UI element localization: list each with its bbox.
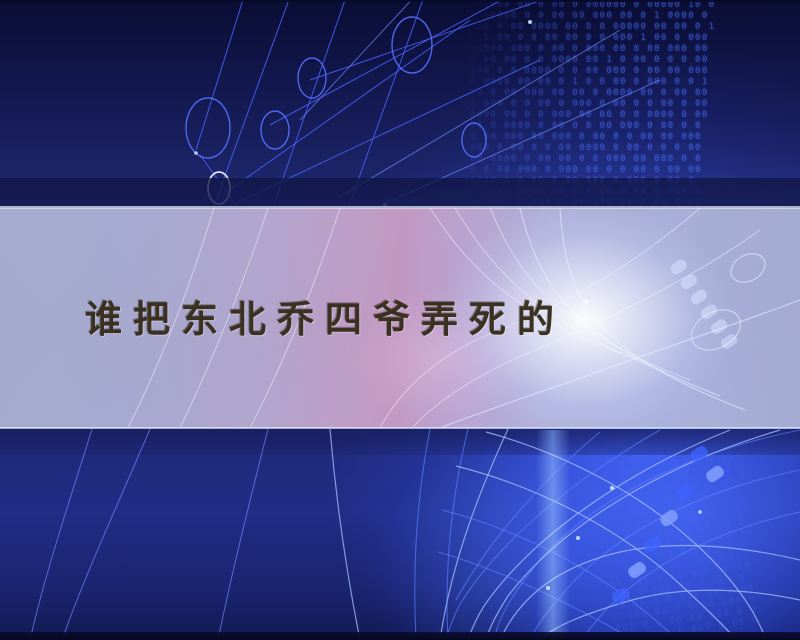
banner-title: 谁把东北乔四爷弄死的 <box>0 283 800 349</box>
band-top-edge <box>0 206 800 208</box>
top-border-line <box>0 0 800 2</box>
band-top-shadow-strip <box>0 178 800 208</box>
banner-image: 0 1000 00 0 00 0 000000 0 00000 10 0 1 0… <box>0 0 800 640</box>
bottom-border-line <box>0 632 800 640</box>
vertical-light-shaft <box>536 430 570 640</box>
